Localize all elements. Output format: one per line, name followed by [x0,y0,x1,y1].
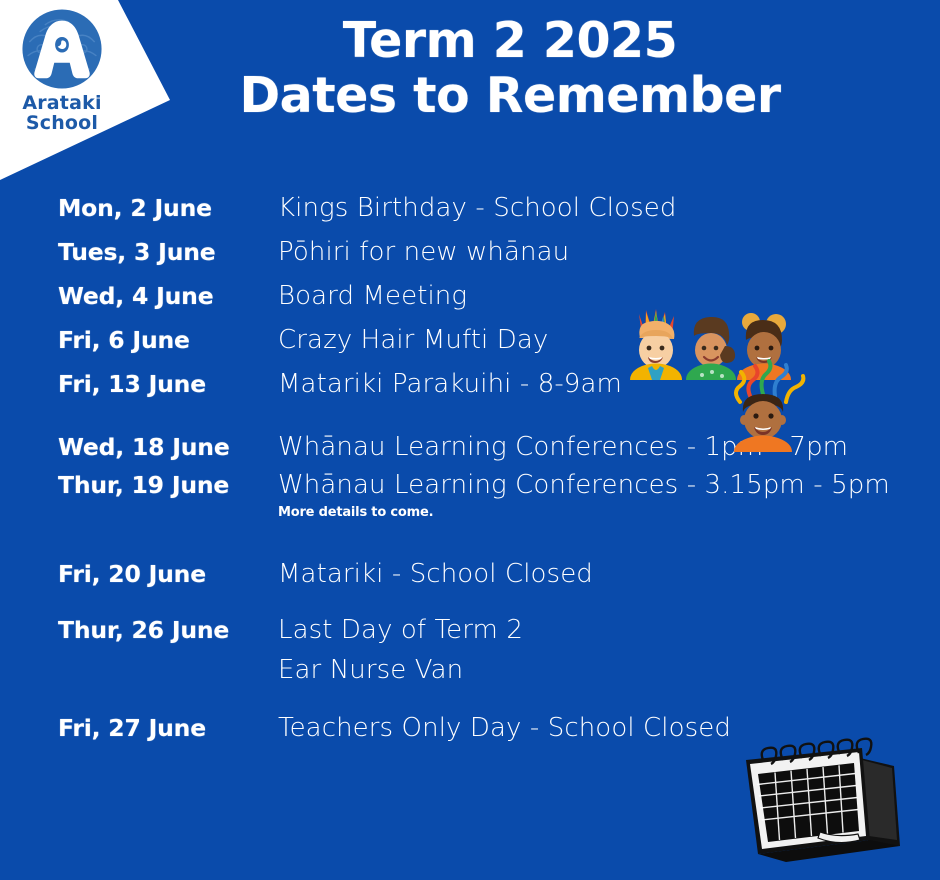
row-date: Fri, 6 June [0,318,276,362]
row-note: More details to come. [278,505,940,520]
row-event: Whānau Learning Conferences - 1pm - 7pm [278,428,940,466]
row-events: Last Day of Term 2 Ear Nurse Van [276,610,940,690]
dates-list: Mon, 2 June Kings Birthday - School Clos… [0,186,940,748]
row-event: Crazy Hair Mufti Day [278,318,940,362]
arataki-school-logo-icon [19,6,105,92]
row-events: Kings Birthday - School Closed [276,186,940,230]
row-date: Fri, 20 June [0,554,276,594]
brand-name: Arataki School [14,94,110,134]
row-event: Whānau Learning Conferences - 3.15pm - 5… [278,466,940,504]
row-events: Pōhiri for new whānau [276,230,940,274]
schedule-row: Thur, 19 June Whānau Learning Conference… [0,466,940,520]
row-events: Whānau Learning Conferences - 1pm - 7pm [276,428,940,466]
row-event: Last Day of Term 2 [278,610,940,650]
row-event: Board Meeting [278,274,940,318]
row-date: Thur, 26 June [0,610,276,650]
brand-name-line2: School [14,114,110,134]
schedule-row: Thur, 26 June Last Day of Term 2 Ear Nur… [0,610,940,690]
row-date: Wed, 18 June [0,428,276,466]
row-date: Mon, 2 June [0,186,276,230]
brand-logo: Arataki School [14,6,110,134]
row-event: Matariki Parakuihi - 8-9am [278,362,940,406]
page-title: Term 2 2025 Dates to Remember [190,14,830,124]
row-date: Fri, 13 June [0,362,276,406]
crazy-hair-kids-illustration [612,302,818,462]
row-event: Pōhiri for new whānau [278,230,940,274]
poster-canvas: Arataki School Term 2 2025 Dates to Reme… [0,0,940,880]
row-date: Fri, 27 June [0,708,276,748]
row-event: Kings Birthday - School Closed [278,186,940,230]
row-date: Tues, 3 June [0,230,276,274]
brand-name-line1: Arataki [22,92,101,114]
row-events: Whānau Learning Conferences - 3.15pm - 5… [276,466,940,520]
desk-calendar-illustration [742,736,932,876]
row-date: Thur, 19 June [0,466,276,504]
schedule-row: Tues, 3 June Pōhiri for new whānau [0,230,940,274]
schedule-row: Fri, 20 June Matariki - School Closed [0,554,940,594]
row-events: Crazy Hair Mufti Day [276,318,940,362]
title-line-2: Dates to Remember [190,69,830,124]
schedule-row: Mon, 2 June Kings Birthday - School Clos… [0,186,940,230]
row-events: Board Meeting [276,274,940,318]
row-events: Matariki Parakuihi - 8-9am [276,362,940,406]
row-event: Ear Nurse Van [278,650,940,690]
row-event: Matariki - School Closed [278,554,940,594]
row-date: Wed, 4 June [0,274,276,318]
title-line-1: Term 2 2025 [190,14,830,69]
row-events: Matariki - School Closed [276,554,940,594]
